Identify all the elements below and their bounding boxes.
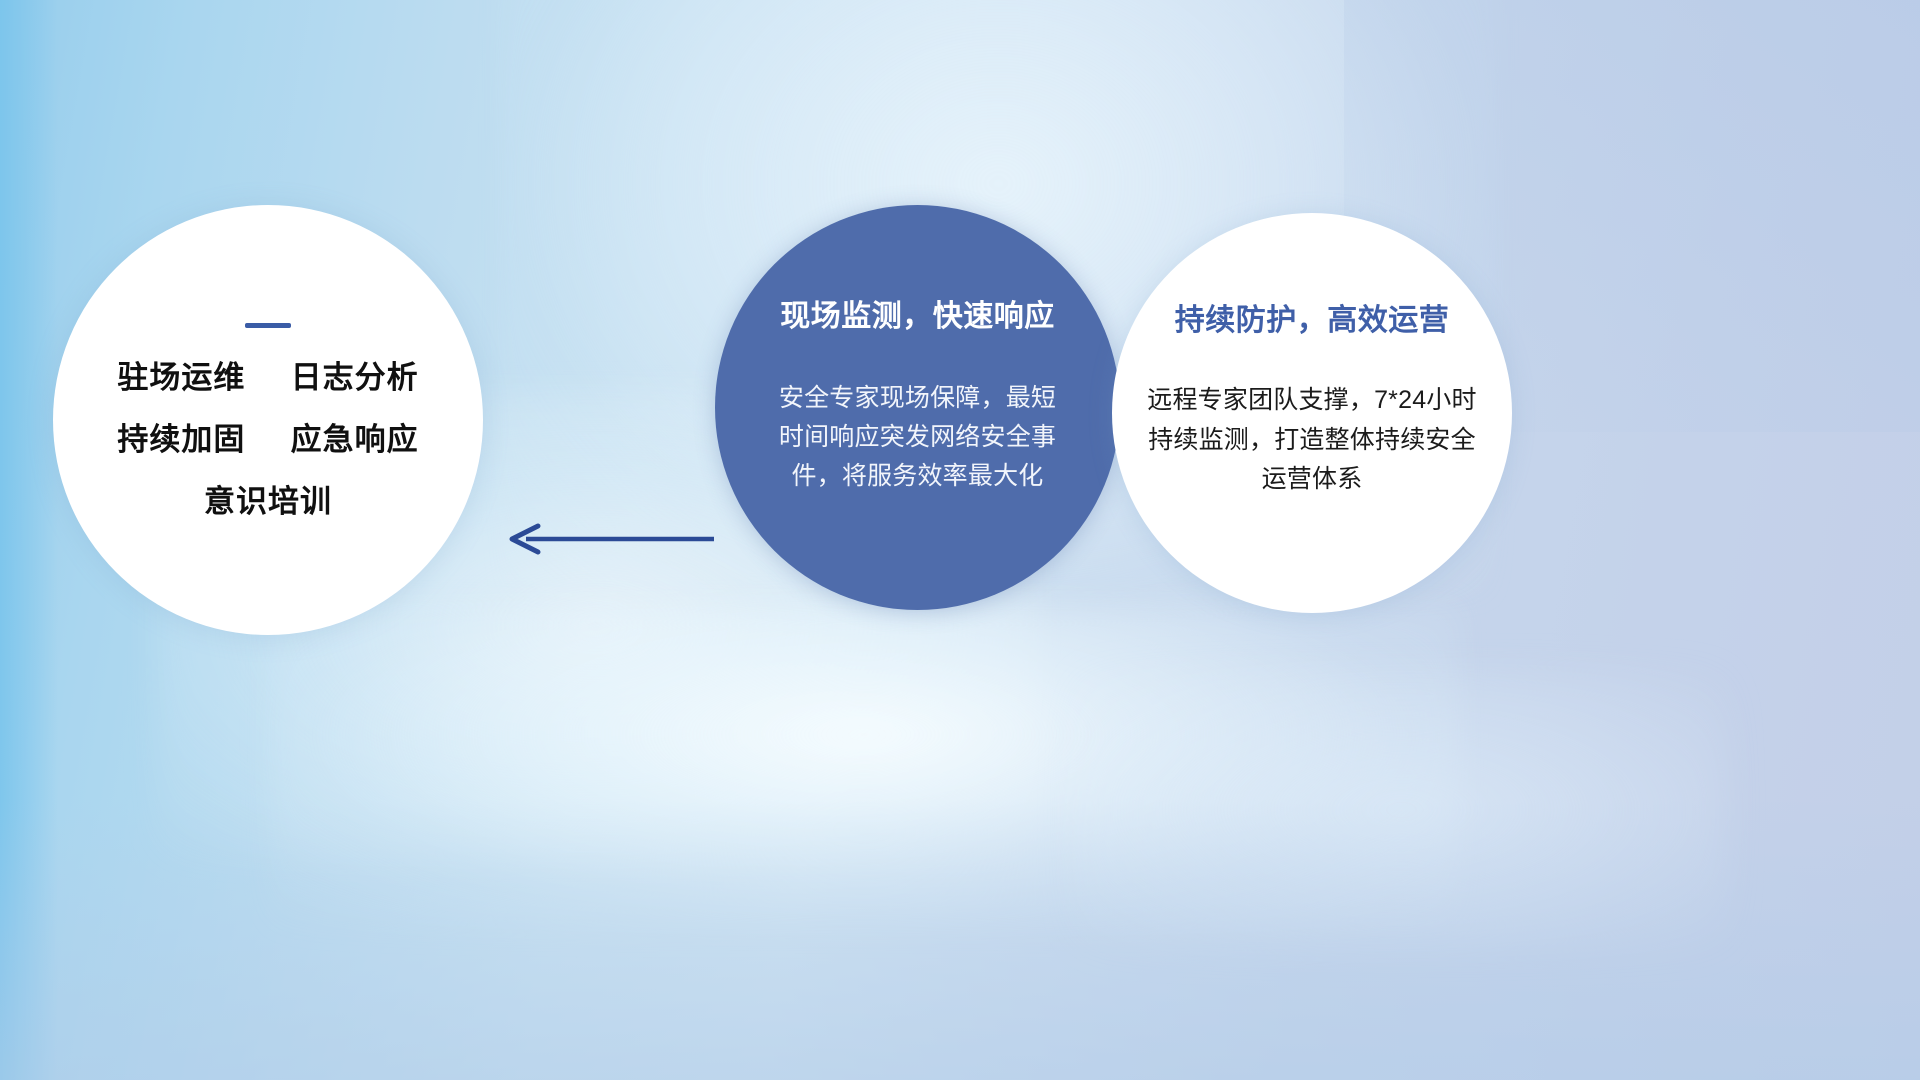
capability-label-rizhi-fenxi: 日志分析: [291, 360, 419, 395]
feature-circle-onsite-monitoring[interactable]: 现场监测，快速响应 安全专家现场保障，最短时间响应突发网络安全事件，将服务效率最…: [715, 205, 1120, 610]
capability-row-1: 驻场运维 日志分析: [53, 362, 483, 393]
feature-body-continuous: 远程专家团队支撑，7*24小时持续监测，打造整体持续安全运营体系: [1138, 381, 1486, 500]
arrow-left-icon: [492, 522, 714, 556]
capability-row-2: 持续加固 应急响应: [53, 424, 483, 455]
capability-label-yishi-peixun: 意识培训: [204, 484, 332, 519]
capability-row-3: 意识培训: [53, 486, 483, 517]
capability-list: 驻场运维 日志分析 持续加固 应急响应 意识培训: [53, 362, 483, 548]
slide-canvas: 驻场运维 日志分析 持续加固 应急响应 意识培训 现场监测，快速响应 安全专家现…: [0, 0, 1920, 1080]
feature-circle-continuous-protection-content: 持续防护，高效运营 远程专家团队支撑，7*24小时持续监测，打造整体持续安全运营…: [1112, 213, 1512, 613]
capability-circle-left[interactable]: 驻场运维 日志分析 持续加固 应急响应 意识培训: [53, 205, 483, 635]
feature-body-onsite: 安全专家现场保障，最短时间响应突发网络安全事件，将服务效率最大化: [770, 379, 1066, 495]
background-shade-bottom: [0, 799, 1920, 1080]
capability-label-yingji-xiangying: 应急响应: [291, 422, 419, 457]
divider-dash-icon: [245, 323, 291, 328]
feature-title-onsite: 现场监测，快速响应: [780, 291, 1055, 335]
capability-label-chixu-jiagu: 持续加固: [117, 422, 245, 457]
capability-label-zhuchang-yunwei: 驻场运维: [117, 360, 245, 395]
feature-title-continuous: 持续防护，高效运营: [1175, 295, 1450, 339]
